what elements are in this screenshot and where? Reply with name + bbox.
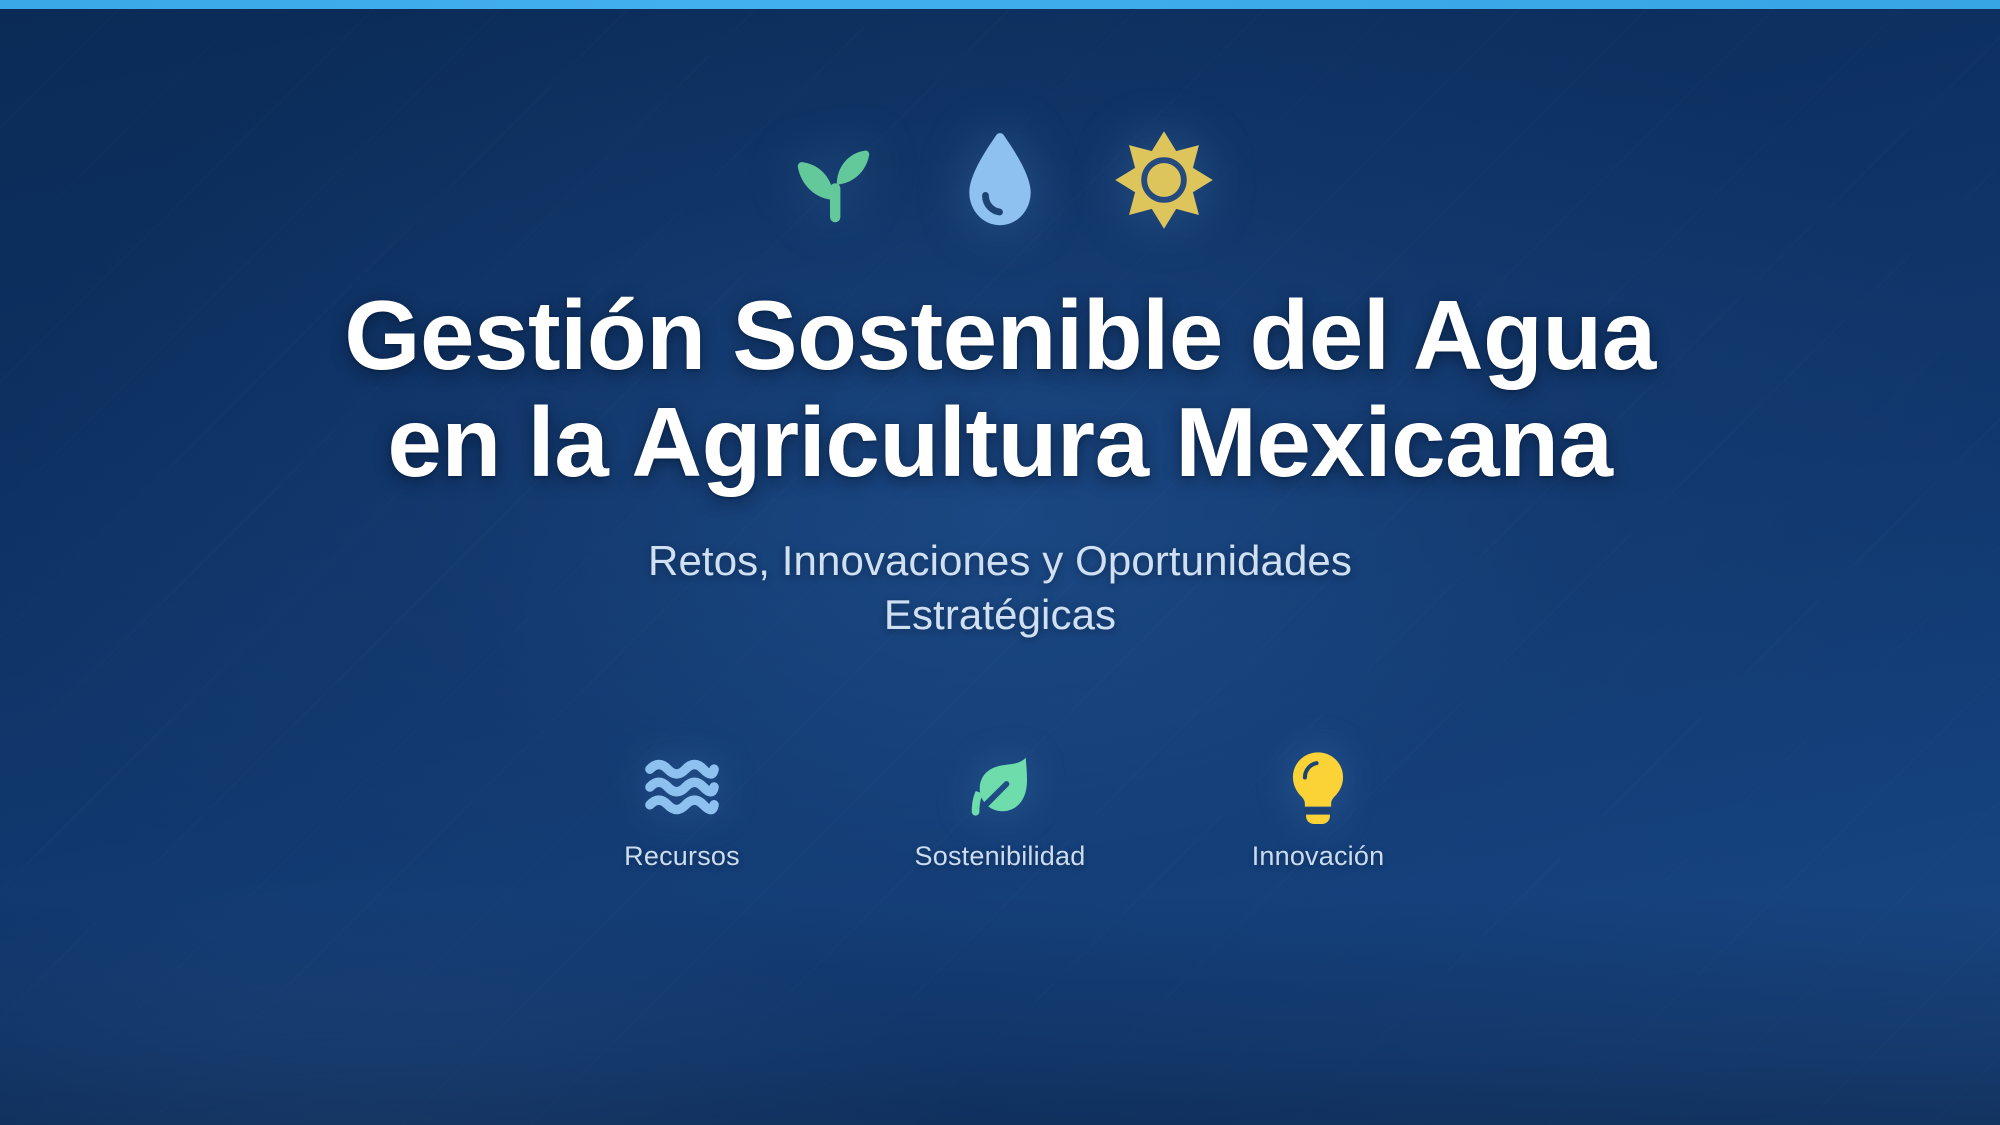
top-accent-bar — [0, 0, 2000, 9]
slide-content: Gestión Sostenible del Agua en la Agricu… — [0, 0, 2000, 1125]
hero-icon-row — [784, 128, 1216, 232]
page-title: Gestión Sostenible del Agua en la Agricu… — [344, 282, 1656, 496]
feature-label-innovacion: Innovación — [1252, 841, 1385, 872]
title-slide: Gestión Sostenible del Agua en la Agricu… — [0, 0, 2000, 1125]
page-subtitle: Retos, Innovaciones y Oportunidades Estr… — [648, 534, 1352, 643]
seedling-icon — [784, 128, 888, 232]
title-line-2: en la Agricultura Mexicana — [344, 389, 1656, 496]
lightbulb-icon — [1287, 751, 1349, 823]
title-line-1: Gestión Sostenible del Agua — [344, 282, 1656, 389]
subtitle-line-1: Retos, Innovaciones y Oportunidades — [648, 534, 1352, 589]
feature-item-sostenibilidad: Sostenibilidad — [900, 751, 1100, 872]
subtitle-line-2: Estratégicas — [648, 588, 1352, 643]
leaf-icon — [964, 751, 1036, 823]
feature-label-sostenibilidad: Sostenibilidad — [915, 841, 1086, 872]
sun-icon — [1112, 128, 1216, 232]
feature-row: Recursos Sostenibilidad — [582, 751, 1418, 872]
water-drop-icon — [958, 128, 1042, 232]
waves-icon — [644, 751, 720, 823]
feature-item-innovacion: Innovación — [1218, 751, 1418, 872]
feature-label-recursos: Recursos — [624, 841, 740, 872]
feature-item-recursos: Recursos — [582, 751, 782, 872]
